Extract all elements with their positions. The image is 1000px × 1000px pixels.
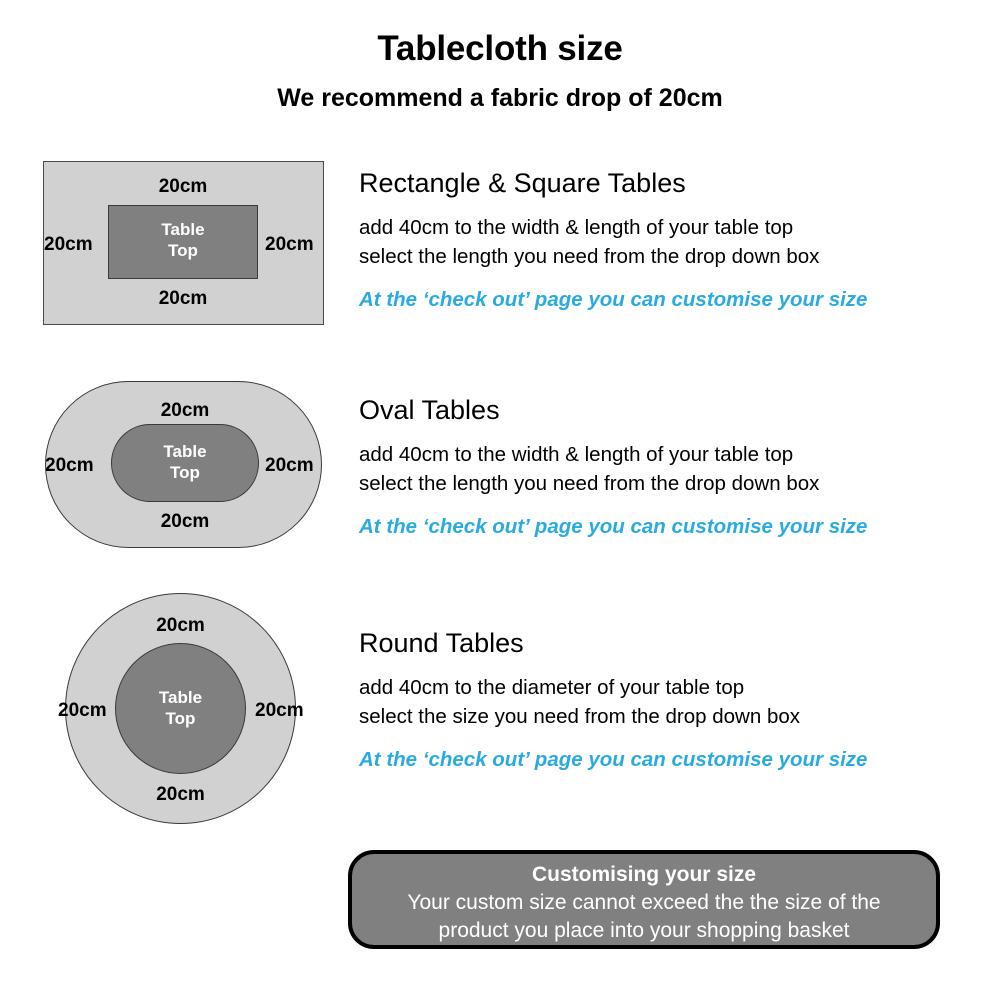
- callout-body-line-1: Your custom size cannot exceed the the s…: [352, 889, 936, 916]
- section-oval: Oval Tables add 40cm to the width & leng…: [359, 396, 979, 539]
- section-body-oval: add 40cm to the width & length of your t…: [359, 440, 979, 499]
- rectangle-drop-bottom: 20cm: [108, 289, 258, 308]
- oval-table-top-label: Table Top: [111, 441, 259, 484]
- round-drop-bottom: 20cm: [115, 785, 246, 804]
- round-table-diagram: Table Top 20cm 20cm 20cm 20cm: [65, 593, 296, 824]
- section-body-line-1: add 40cm to the width & length of your t…: [359, 213, 979, 243]
- callout-title: Customising your size: [352, 862, 936, 888]
- oval-drop-bottom: 20cm: [111, 512, 259, 531]
- round-drop-left: 20cm: [58, 701, 107, 720]
- callout-body: Your custom size cannot exceed the the s…: [352, 889, 936, 944]
- rectangle-table-diagram: Table Top 20cm 20cm 20cm 20cm: [43, 161, 324, 325]
- rectangle-table-top-label: Table Top: [108, 219, 258, 262]
- section-round: Round Tables add 40cm to the diameter of…: [359, 629, 979, 772]
- oval-drop-right: 20cm: [265, 456, 314, 475]
- oval-table-diagram: Table Top 20cm 20cm 20cm 20cm: [45, 381, 322, 548]
- section-note-oval: At the ‘check out’ page you can customis…: [359, 515, 979, 539]
- rectangle-drop-right: 20cm: [265, 235, 314, 254]
- rectangle-drop-top: 20cm: [108, 177, 258, 196]
- infographic-page: Tablecloth size We recommend a fabric dr…: [0, 0, 1000, 1000]
- section-note-rectangle: At the ‘check out’ page you can customis…: [359, 288, 979, 312]
- section-heading-oval: Oval Tables: [359, 396, 979, 426]
- page-title: Tablecloth size: [0, 29, 1000, 69]
- page-subtitle: We recommend a fabric drop of 20cm: [0, 84, 1000, 113]
- table-top-line-2: Top: [115, 708, 246, 729]
- section-body-rectangle: add 40cm to the width & length of your t…: [359, 213, 979, 272]
- oval-drop-top: 20cm: [111, 401, 259, 420]
- section-heading-rectangle: Rectangle & Square Tables: [359, 169, 979, 199]
- round-drop-top: 20cm: [115, 616, 246, 635]
- section-note-round: At the ‘check out’ page you can customis…: [359, 748, 979, 772]
- section-rectangle-square: Rectangle & Square Tables add 40cm to th…: [359, 169, 979, 312]
- rectangle-drop-left: 20cm: [44, 235, 93, 254]
- customising-size-callout: Customising your size Your custom size c…: [348, 850, 940, 949]
- table-top-line-2: Top: [108, 240, 258, 261]
- round-drop-right: 20cm: [255, 701, 304, 720]
- section-body-line-1: add 40cm to the width & length of your t…: [359, 440, 979, 470]
- section-heading-round: Round Tables: [359, 629, 979, 659]
- table-top-line-2: Top: [111, 462, 259, 483]
- section-body-line-2: select the length you need from the drop…: [359, 469, 979, 499]
- section-body-line-2: select the size you need from the drop d…: [359, 702, 979, 732]
- round-table-top-label: Table Top: [115, 687, 246, 730]
- table-top-line-1: Table: [108, 219, 258, 240]
- table-top-line-1: Table: [111, 441, 259, 462]
- section-body-line-1: add 40cm to the diameter of your table t…: [359, 673, 979, 703]
- section-body-round: add 40cm to the diameter of your table t…: [359, 673, 979, 732]
- table-top-line-1: Table: [115, 687, 246, 708]
- oval-drop-left: 20cm: [45, 456, 94, 475]
- callout-body-line-2: product you place into your shopping bas…: [352, 917, 936, 944]
- section-body-line-2: select the length you need from the drop…: [359, 242, 979, 272]
